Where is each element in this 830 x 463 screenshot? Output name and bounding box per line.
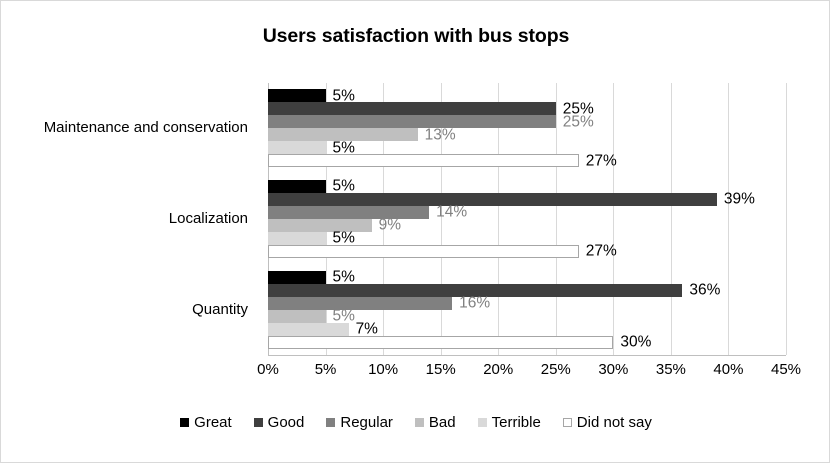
legend-item-did-not-say[interactable]: Did not say — [563, 414, 652, 431]
legend-label: Regular — [340, 414, 393, 431]
category-axis: Maintenance and conservationLocalization… — [1, 83, 258, 355]
x-tick-label: 15% — [426, 361, 456, 378]
bar-value-label: 5% — [333, 179, 355, 195]
bar-row: 27% — [268, 154, 786, 167]
x-tick-label: 20% — [483, 361, 513, 378]
bar-row: 14% — [268, 206, 786, 219]
bar-group: 5%25%25%13%5%27% — [268, 83, 786, 174]
legend-item-terrible[interactable]: Terrible — [478, 414, 541, 431]
legend-swatch-icon — [180, 418, 189, 427]
x-tick-label: 45% — [771, 361, 801, 378]
bar-row: 5% — [268, 232, 786, 245]
bar-value-label: 30% — [620, 334, 651, 350]
bar-row: 27% — [268, 245, 786, 258]
bar-row: 5% — [268, 180, 786, 193]
plot-area: 5%25%25%13%5%27%5%39%14%9%5%27%5%36%16%5… — [268, 83, 786, 355]
bar[interactable] — [268, 102, 556, 115]
bar[interactable] — [268, 245, 579, 258]
legend-swatch-icon — [478, 418, 487, 427]
bar[interactable] — [268, 271, 326, 284]
legend-swatch-icon — [563, 418, 572, 427]
bar[interactable] — [268, 323, 349, 336]
chart-legend: GreatGoodRegularBadTerribleDid not say — [1, 414, 830, 431]
bar-row: 5% — [268, 89, 786, 102]
bar-row: 5% — [268, 310, 786, 323]
legend-item-bad[interactable]: Bad — [415, 414, 456, 431]
legend-swatch-icon — [326, 418, 335, 427]
bar-row: 25% — [268, 102, 786, 115]
bar-value-label: 5% — [333, 269, 355, 285]
bar[interactable] — [268, 154, 579, 167]
x-tick-label: 10% — [368, 361, 398, 378]
bar-value-label: 36% — [689, 282, 720, 298]
bar[interactable] — [268, 193, 717, 206]
legend-item-great[interactable]: Great — [180, 414, 232, 431]
bar-row: 7% — [268, 323, 786, 336]
bar-value-label: 16% — [459, 295, 490, 311]
legend-label: Terrible — [492, 414, 541, 431]
x-tick-label: 30% — [598, 361, 628, 378]
legend-item-good[interactable]: Good — [254, 414, 305, 431]
bar-value-label: 7% — [356, 321, 378, 337]
bar-row: 39% — [268, 193, 786, 206]
bar-value-label: 9% — [379, 218, 401, 234]
bar-row: 5% — [268, 141, 786, 154]
legend-label: Did not say — [577, 414, 652, 431]
category-label: Quantity — [192, 301, 248, 318]
bar-value-label: 5% — [333, 231, 355, 247]
bar-value-label: 27% — [586, 244, 617, 260]
x-axis-tick-labels: 0%5%10%15%20%25%30%35%40%45% — [268, 361, 786, 385]
bar[interactable] — [268, 180, 326, 193]
x-axis-line — [268, 355, 786, 356]
bar-value-label: 5% — [333, 308, 355, 324]
legend-item-regular[interactable]: Regular — [326, 414, 393, 431]
legend-swatch-icon — [254, 418, 263, 427]
x-tick-label: 35% — [656, 361, 686, 378]
bar-group: 5%39%14%9%5%27% — [268, 174, 786, 265]
bar[interactable] — [268, 141, 326, 154]
bar[interactable] — [268, 219, 372, 232]
gridline-45 — [786, 83, 787, 355]
bar-row: 36% — [268, 284, 786, 297]
bar[interactable] — [268, 336, 613, 349]
chart-container: Users satisfaction with bus stops Mainte… — [0, 0, 830, 463]
bar[interactable] — [268, 89, 326, 102]
legend-label: Bad — [429, 414, 456, 431]
legend-label: Great — [194, 414, 232, 431]
legend-label: Good — [268, 414, 305, 431]
bar-value-label: 5% — [333, 88, 355, 104]
chart-title: Users satisfaction with bus stops — [1, 25, 830, 48]
bar-row: 30% — [268, 336, 786, 349]
bar-value-label: 5% — [333, 140, 355, 156]
x-tick-label: 5% — [315, 361, 337, 378]
bar-value-label: 39% — [724, 192, 755, 208]
bar-value-label: 27% — [586, 153, 617, 169]
bar[interactable] — [268, 297, 452, 310]
bar-value-label: 13% — [425, 127, 456, 143]
bar-row: 25% — [268, 115, 786, 128]
bar[interactable] — [268, 115, 556, 128]
legend-swatch-icon — [415, 418, 424, 427]
x-tick-label: 25% — [541, 361, 571, 378]
bar-value-label: 14% — [436, 205, 467, 221]
bar[interactable] — [268, 232, 326, 245]
x-tick-label: 40% — [713, 361, 743, 378]
bar-group: 5%36%16%5%7%30% — [268, 264, 786, 355]
x-tick-label: 0% — [257, 361, 279, 378]
bar[interactable] — [268, 310, 326, 323]
category-label: Maintenance and conservation — [44, 119, 248, 136]
category-label: Localization — [169, 210, 248, 227]
bar-value-label: 25% — [563, 114, 594, 130]
bar[interactable] — [268, 206, 429, 219]
